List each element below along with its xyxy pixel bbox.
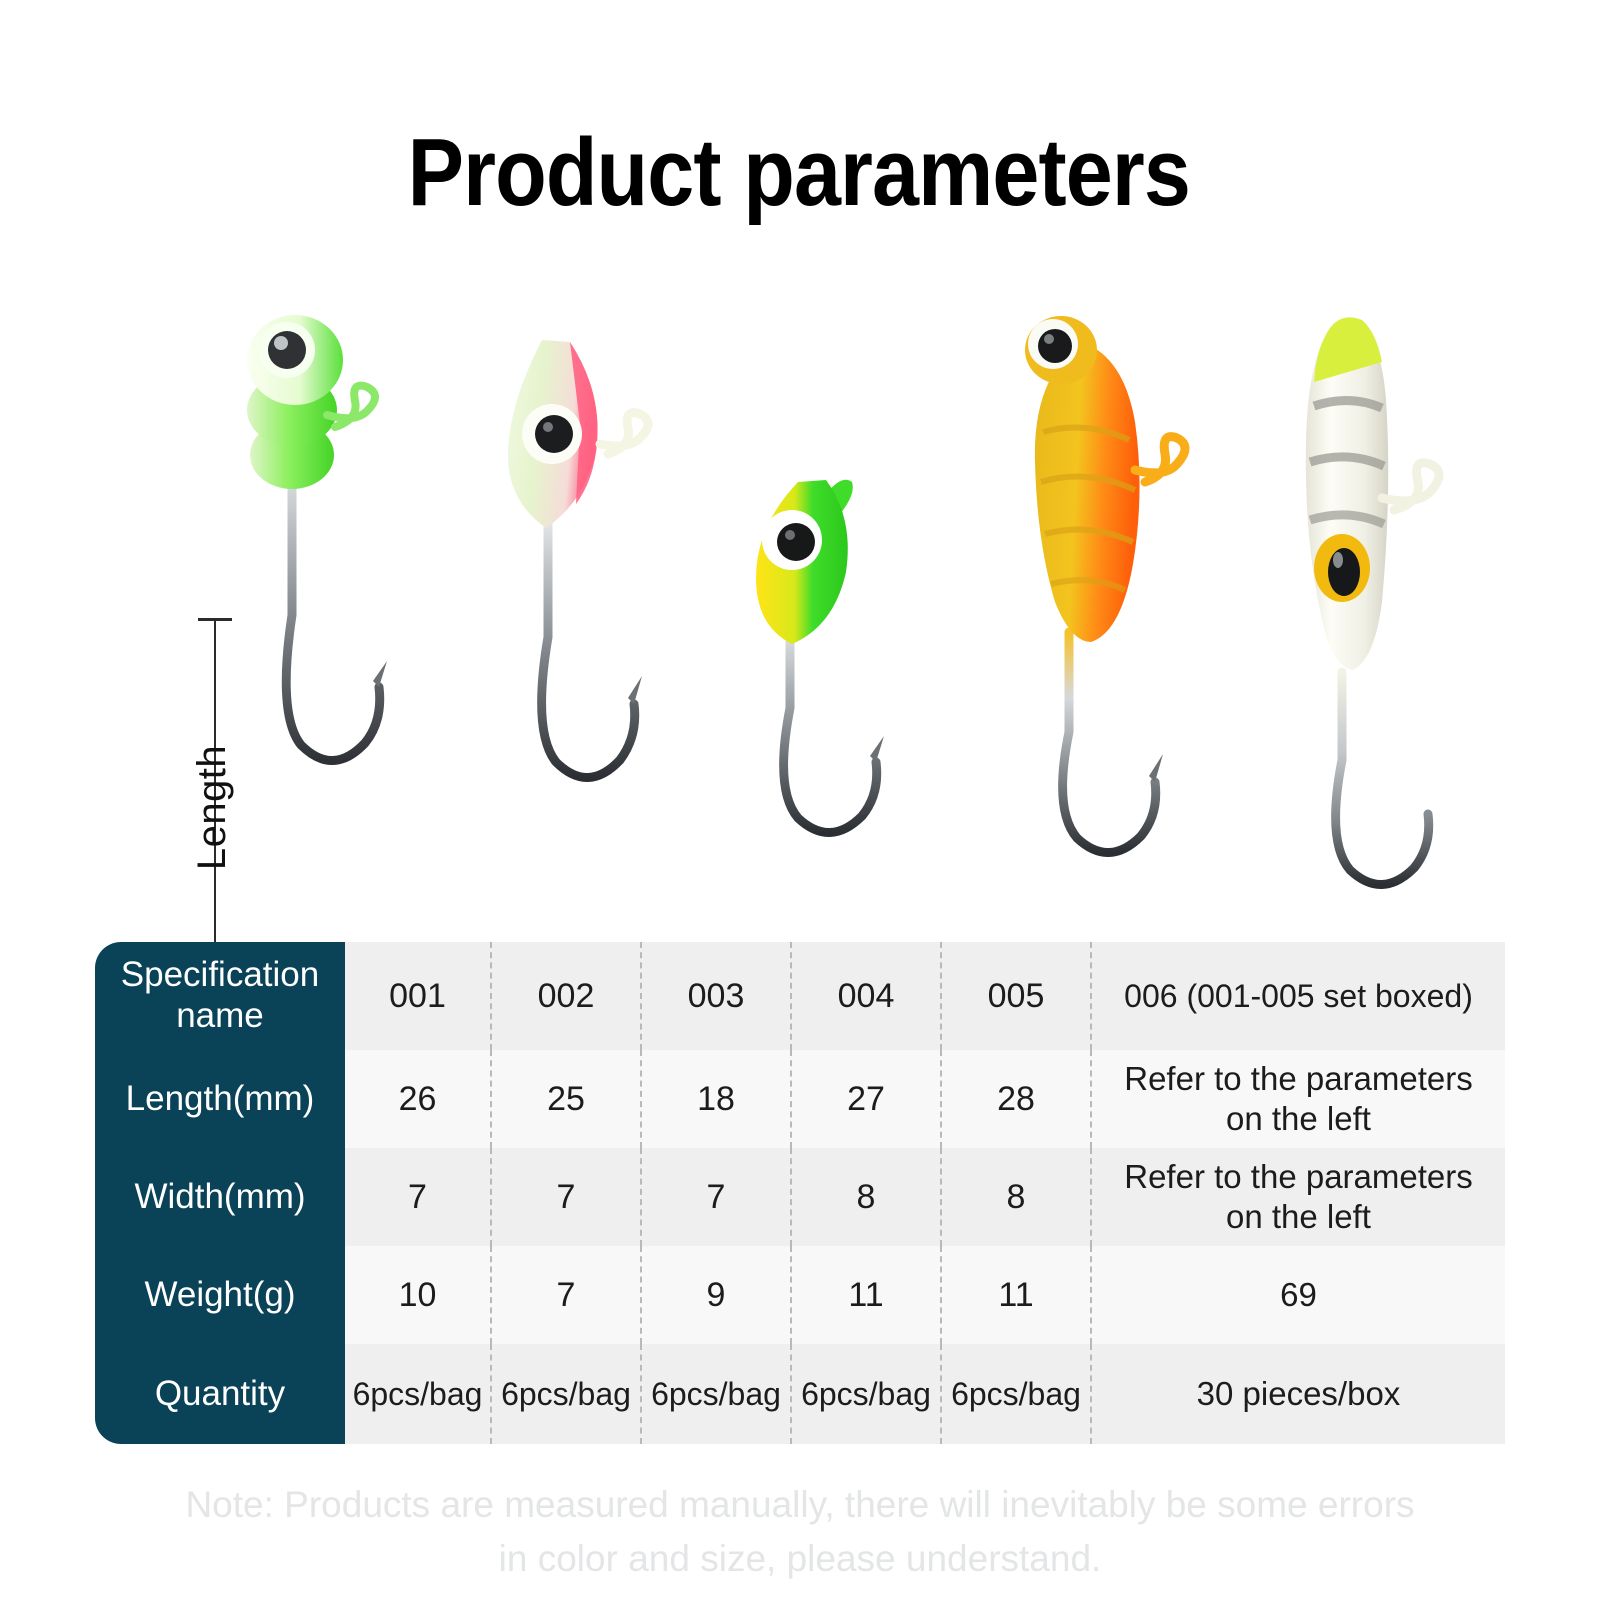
cell-width-001: 7 <box>345 1148 491 1246</box>
row-label-spec-name: Specification name <box>95 942 345 1050</box>
cell-weight-006: 69 <box>1091 1246 1505 1344</box>
cell-spec-005: 005 <box>941 942 1091 1050</box>
cell-quantity-002: 6pcs/bag <box>491 1344 641 1444</box>
row-label-width: Width(mm) <box>95 1148 345 1246</box>
length-dimension-label: Length <box>190 745 235 870</box>
cell-spec-001: 001 <box>345 942 491 1050</box>
cell-length-003: 18 <box>641 1050 791 1148</box>
cell-quantity-001: 6pcs/bag <box>345 1344 491 1444</box>
row-label-weight: Weight(g) <box>95 1246 345 1344</box>
cell-width-006: Refer to the parameters on the left <box>1091 1148 1505 1246</box>
cell-quantity-005: 6pcs/bag <box>941 1344 1091 1444</box>
page-title: Product parameters <box>95 118 1503 228</box>
cell-quantity-004: 6pcs/bag <box>791 1344 941 1444</box>
cell-weight-001: 10 <box>345 1246 491 1344</box>
table-row-quantity: Quantity 6pcs/bag 6pcs/bag 6pcs/bag 6pcs… <box>95 1344 1505 1444</box>
lure-004 <box>995 302 1225 882</box>
cell-weight-003: 9 <box>641 1246 791 1344</box>
cell-spec-003: 003 <box>641 942 791 1050</box>
cell-weight-005: 11 <box>941 1246 1091 1344</box>
row-label-length: Length(mm) <box>95 1050 345 1148</box>
cell-length-005: 28 <box>941 1050 1091 1148</box>
cell-length-006: Refer to the parameters on the left <box>1091 1050 1505 1148</box>
cell-width-002: 7 <box>491 1148 641 1246</box>
cell-spec-002: 002 <box>491 942 641 1050</box>
table-row-spec-name: Specification name 001 002 003 004 005 0… <box>95 942 1505 1050</box>
cell-length-004: 27 <box>791 1050 941 1148</box>
specification-table: Specification name 001 002 003 004 005 0… <box>95 942 1505 1444</box>
lure-002 <box>480 332 700 882</box>
cell-weight-004: 11 <box>791 1246 941 1344</box>
cell-width-004: 8 <box>791 1148 941 1246</box>
lure-003 <box>730 460 950 890</box>
table-row-weight: Weight(g) 10 7 9 11 11 69 <box>95 1246 1505 1344</box>
row-label-quantity: Quantity <box>95 1344 345 1444</box>
lure-001 <box>215 315 445 875</box>
table-row-width: Width(mm) 7 7 7 8 8 Refer to the paramet… <box>95 1148 1505 1246</box>
cell-width-005: 8 <box>941 1148 1091 1246</box>
lure-005 <box>1270 290 1500 890</box>
cell-length-001: 26 <box>345 1050 491 1148</box>
cell-spec-004: 004 <box>791 942 941 1050</box>
cell-weight-002: 7 <box>491 1246 641 1344</box>
product-photo-strip: Length Width <box>0 280 1600 920</box>
table-row-length: Length(mm) 26 25 18 27 28 Refer to the p… <box>95 1050 1505 1148</box>
cell-quantity-003: 6pcs/bag <box>641 1344 791 1444</box>
cell-width-003: 7 <box>641 1148 791 1246</box>
cell-quantity-006: 30 pieces/box <box>1091 1344 1505 1444</box>
cell-length-002: 25 <box>491 1050 641 1148</box>
disclaimer-note: Note: Products are measured manually, th… <box>180 1478 1420 1586</box>
cell-spec-006: 006 (001-005 set boxed) <box>1091 942 1505 1050</box>
